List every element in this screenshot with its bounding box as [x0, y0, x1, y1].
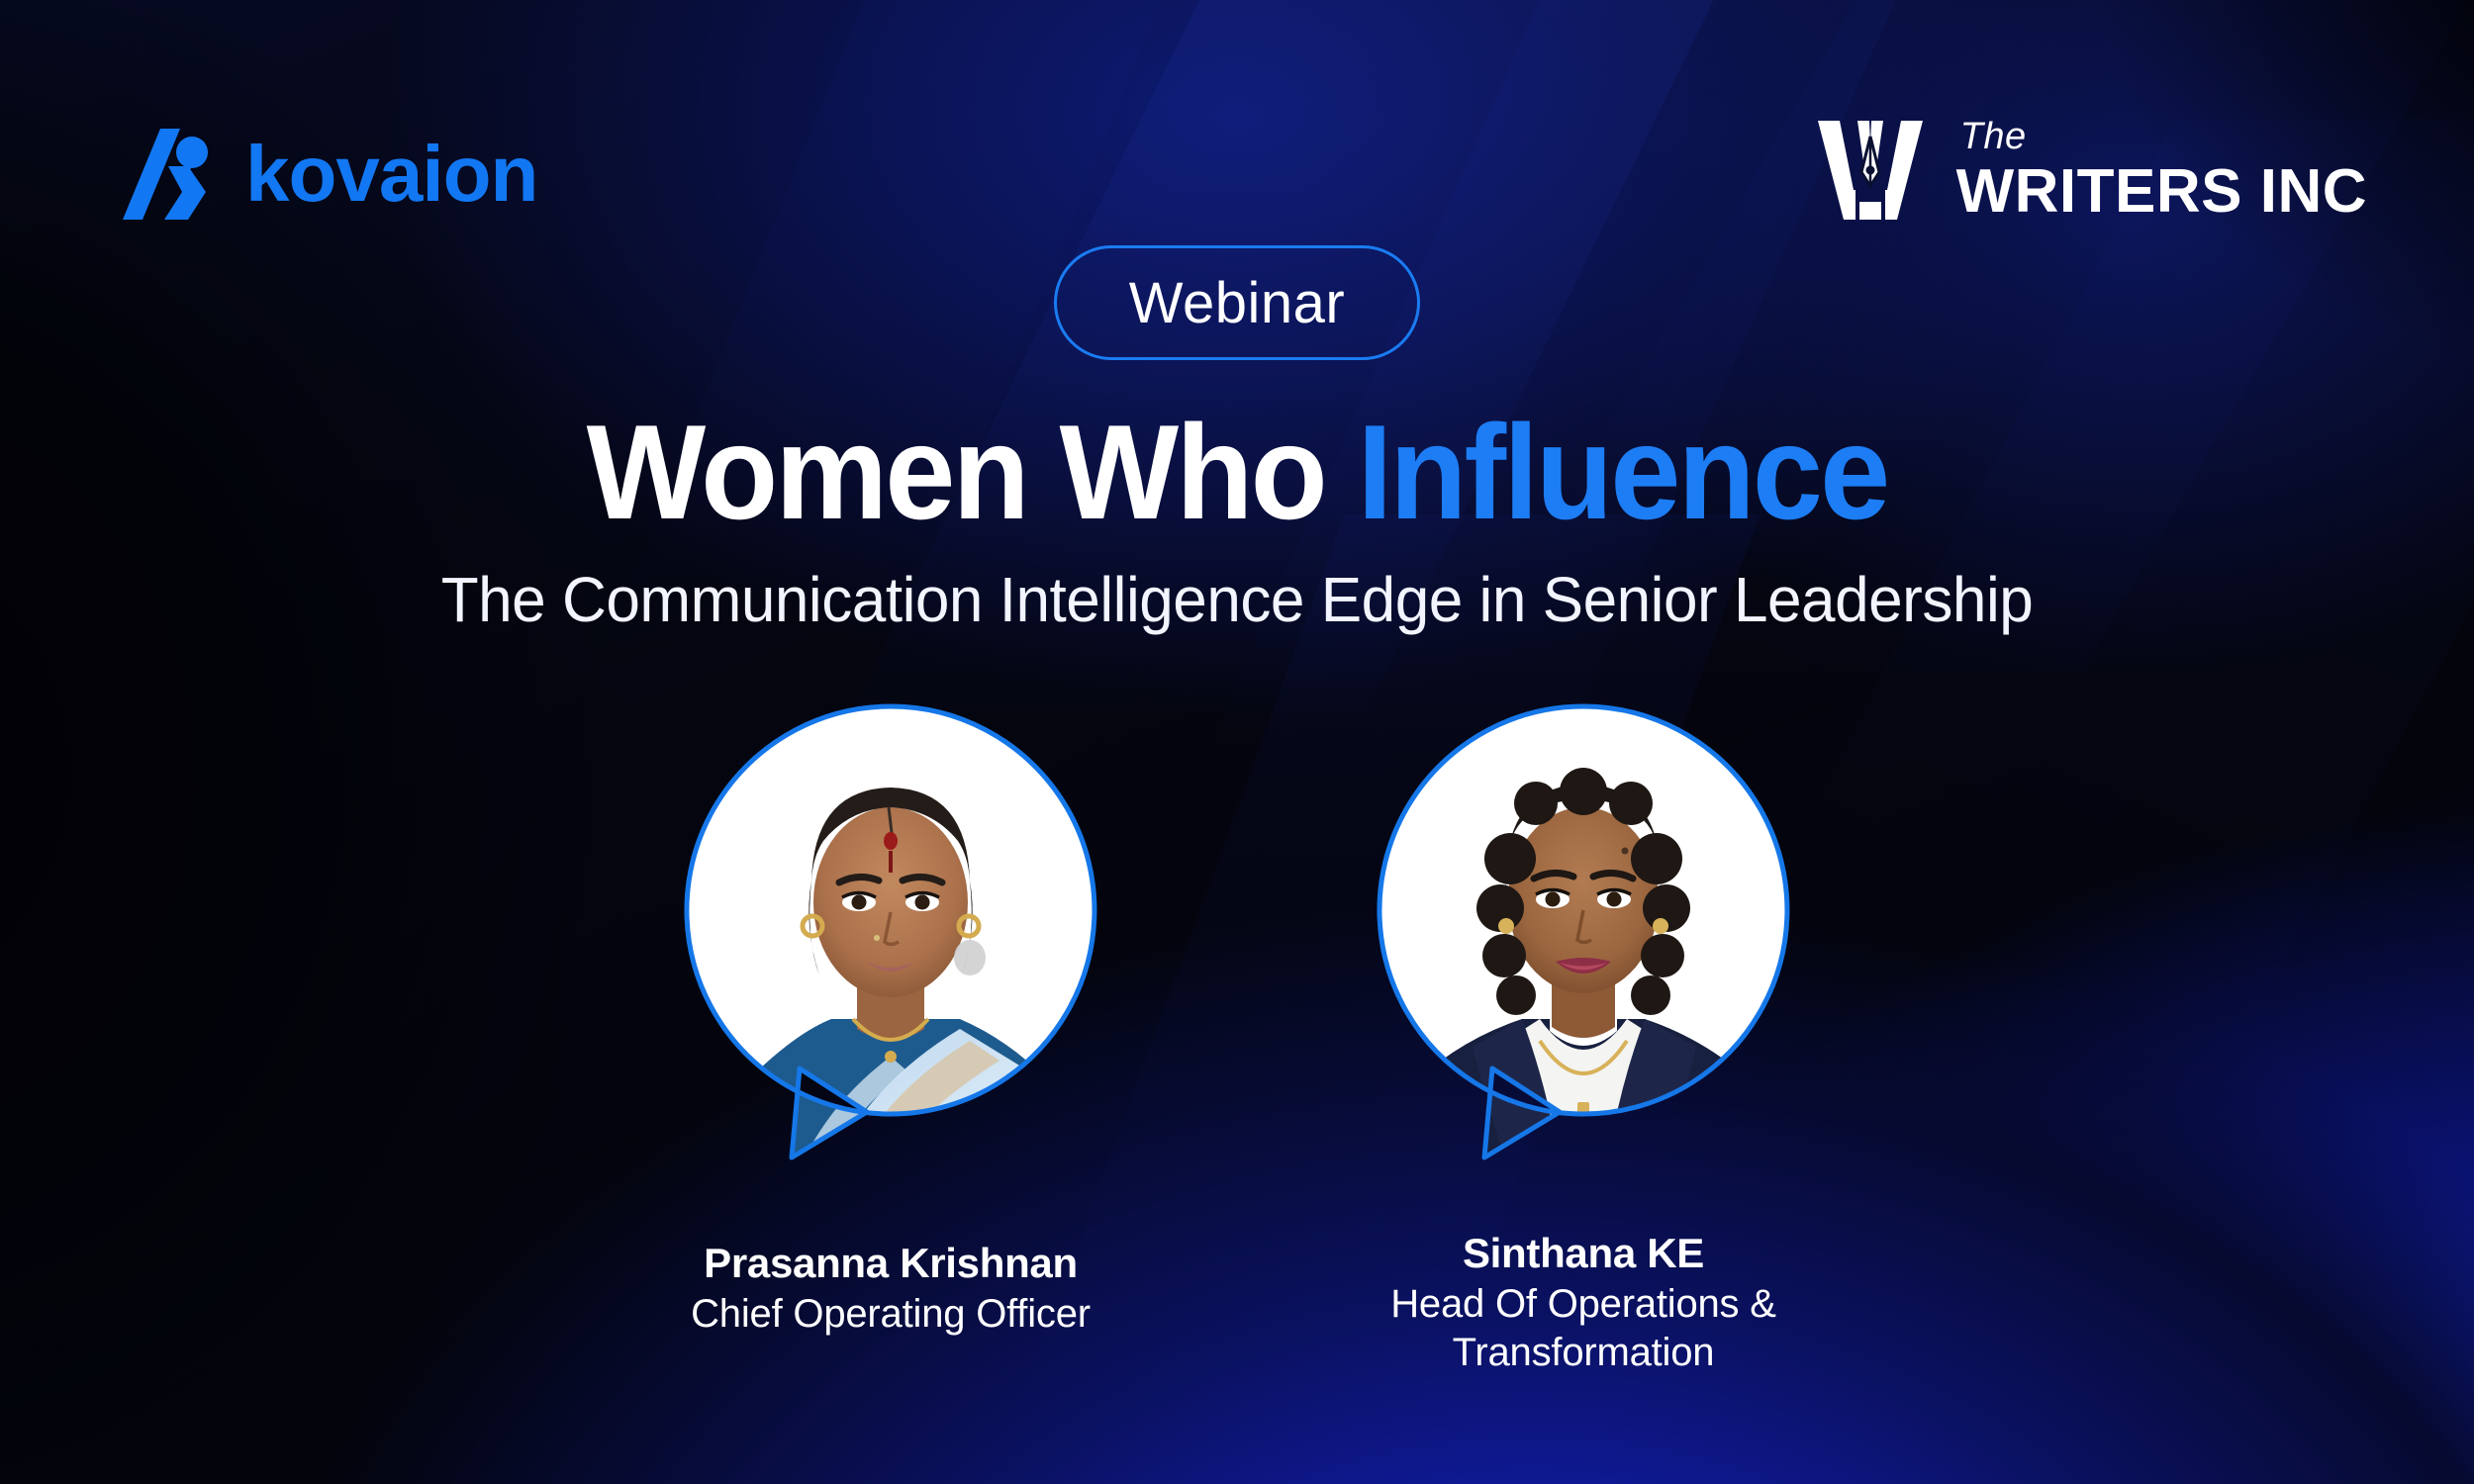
poster-canvas: kovaion The WRITERS INC Webinar Women Wh… — [0, 0, 2474, 1484]
writers-inc-label: WRITERS INC — [1956, 161, 2367, 223]
speech-bubble-outline — [673, 693, 1108, 1187]
speaker-role: Chief Operating Officer — [691, 1290, 1091, 1339]
speaker-card: Sinthana KE Head Of Operations & Transfo… — [1356, 693, 1811, 1377]
speaker-portrait-bubble — [673, 693, 1108, 1187]
speaker-name: Sinthana KE — [1390, 1229, 1776, 1278]
writers-inc-logo[interactable]: The WRITERS INC — [1814, 115, 2367, 226]
speaker-name: Prasanna Krishnan — [691, 1239, 1091, 1288]
speaker-list: Prasanna Krishnan Chief Operating Office… — [0, 693, 2474, 1377]
webinar-badge-label: Webinar — [1129, 270, 1345, 336]
page-title-accent: Influence — [1358, 397, 1888, 547]
kovaion-logo[interactable]: kovaion — [121, 127, 537, 222]
page-subtitle: The Communication Intelligence Edge in S… — [38, 563, 2437, 636]
page-title-white: Women Who — [587, 397, 1358, 547]
page-title: Women Who Influence — [74, 404, 2400, 541]
speaker-info: Prasanna Krishnan Chief Operating Office… — [691, 1239, 1091, 1339]
writers-w-nib-monogram-icon — [1814, 115, 1927, 226]
speaker-role: Head Of Operations & Transformation — [1390, 1280, 1776, 1377]
writers-the-label: The — [1956, 118, 2367, 155]
speaker-info: Sinthana KE Head Of Operations & Transfo… — [1390, 1229, 1776, 1377]
kovaion-k-mark-icon — [121, 127, 212, 222]
speech-bubble-outline — [1366, 693, 1801, 1187]
writers-inc-wordmark: The WRITERS INC — [1956, 118, 2367, 223]
speaker-card: Prasanna Krishnan Chief Operating Office… — [663, 693, 1118, 1339]
speaker-role-line2: Transformation — [1390, 1329, 1776, 1377]
hero-block: Webinar Women Who Influence The Communic… — [0, 245, 2474, 636]
speaker-role-line1: Chief Operating Officer — [691, 1292, 1091, 1336]
webinar-badge: Webinar — [1054, 245, 1420, 360]
speaker-role-line1: Head Of Operations & — [1390, 1282, 1776, 1326]
kovaion-wordmark: kovaion — [245, 135, 537, 214]
speaker-portrait-bubble — [1366, 693, 1801, 1187]
